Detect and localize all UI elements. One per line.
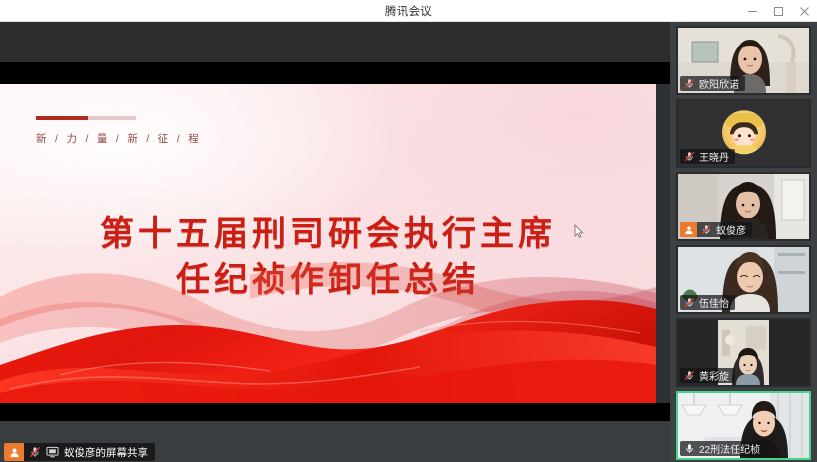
participant-sidebar[interactable]: 欧阳欣诺 王晓丹 — [670, 22, 817, 462]
participant-name-tag: 伍佳怡 — [680, 295, 735, 310]
participant-name-tag: 欧阳欣诺 — [680, 76, 745, 91]
participant-tile[interactable]: 欧阳欣诺 — [676, 26, 811, 95]
participant-tile[interactable]: 黄彩旋 — [676, 318, 811, 387]
participant-name: 欧阳欣诺 — [699, 76, 739, 91]
mic-muted-icon — [684, 151, 695, 162]
letterbox-bottom — [0, 403, 670, 421]
window-title: 腾讯会议 — [385, 3, 432, 19]
mic-muted-icon — [701, 224, 712, 235]
presentation-slide: 新 / 力 / 量 / 新 / 征 / 程 第十五届刑司研会执行主席 任纪祯作卸… — [0, 84, 656, 403]
participant-tile[interactable]: 蚁俊彦 — [676, 172, 811, 241]
mic-on-icon — [684, 443, 695, 454]
screen-share-label: 蚁俊彦的屏幕共享 — [4, 443, 155, 461]
host-badge-icon — [680, 222, 697, 237]
kicker-bar-accent — [36, 116, 88, 120]
slide-title-line1: 第十五届刑司研会执行主席 — [100, 214, 556, 254]
kicker-bar-muted — [88, 116, 136, 120]
mic-muted-icon — [29, 446, 41, 458]
close-icon[interactable] — [791, 0, 817, 22]
host-badge-icon — [4, 443, 24, 461]
participant-tile[interactable]: 王晓丹 — [676, 99, 811, 168]
window-titlebar: 腾讯会议 — [0, 0, 817, 22]
participant-tile[interactable]: 伍佳怡 — [676, 245, 811, 314]
red-silk-ribbon-graphic — [0, 253, 656, 403]
kicker-bar — [36, 116, 136, 120]
window-controls — [739, 0, 817, 22]
participant-name: 黄彩旋 — [699, 368, 729, 383]
participant-name-tag: 蚁俊彦 — [680, 222, 752, 237]
minimize-icon[interactable] — [739, 0, 765, 22]
stage-top-bar — [0, 22, 670, 62]
mic-muted-icon — [684, 78, 695, 89]
maximize-icon[interactable] — [765, 0, 791, 22]
participant-name-tag: 黄彩旋 — [680, 368, 735, 383]
participant-name-tag: 22刑法任纪桢 — [680, 441, 766, 456]
participant-name: 王晓丹 — [699, 149, 729, 164]
mic-muted-icon — [684, 370, 695, 381]
screen-share-icon — [46, 446, 59, 458]
participant-name: 伍佳怡 — [699, 295, 729, 310]
slide-kicker-text: 新 / 力 / 量 / 新 / 征 / 程 — [36, 131, 202, 146]
screen-share-owner: 蚁俊彦的屏幕共享 — [64, 445, 148, 460]
participant-name: 22刑法任纪桢 — [699, 441, 760, 456]
slide-kicker: 新 / 力 / 量 / 新 / 征 / 程 — [36, 116, 202, 146]
participant-tile-active-speaker[interactable]: 22刑法任纪桢 — [676, 391, 811, 460]
shared-screen-stage[interactable]: 新 / 力 / 量 / 新 / 征 / 程 第十五届刑司研会执行主席 任纪祯作卸… — [0, 22, 670, 462]
avatar — [722, 110, 766, 154]
participant-name: 蚁俊彦 — [716, 222, 746, 237]
participant-name-tag: 王晓丹 — [680, 149, 735, 164]
tencent-meeting-window: 腾讯会议 新 / 力 / 量 / 新 / 征 / 程 — [0, 0, 817, 462]
letterbox-top — [0, 62, 670, 84]
mic-muted-icon — [684, 297, 695, 308]
